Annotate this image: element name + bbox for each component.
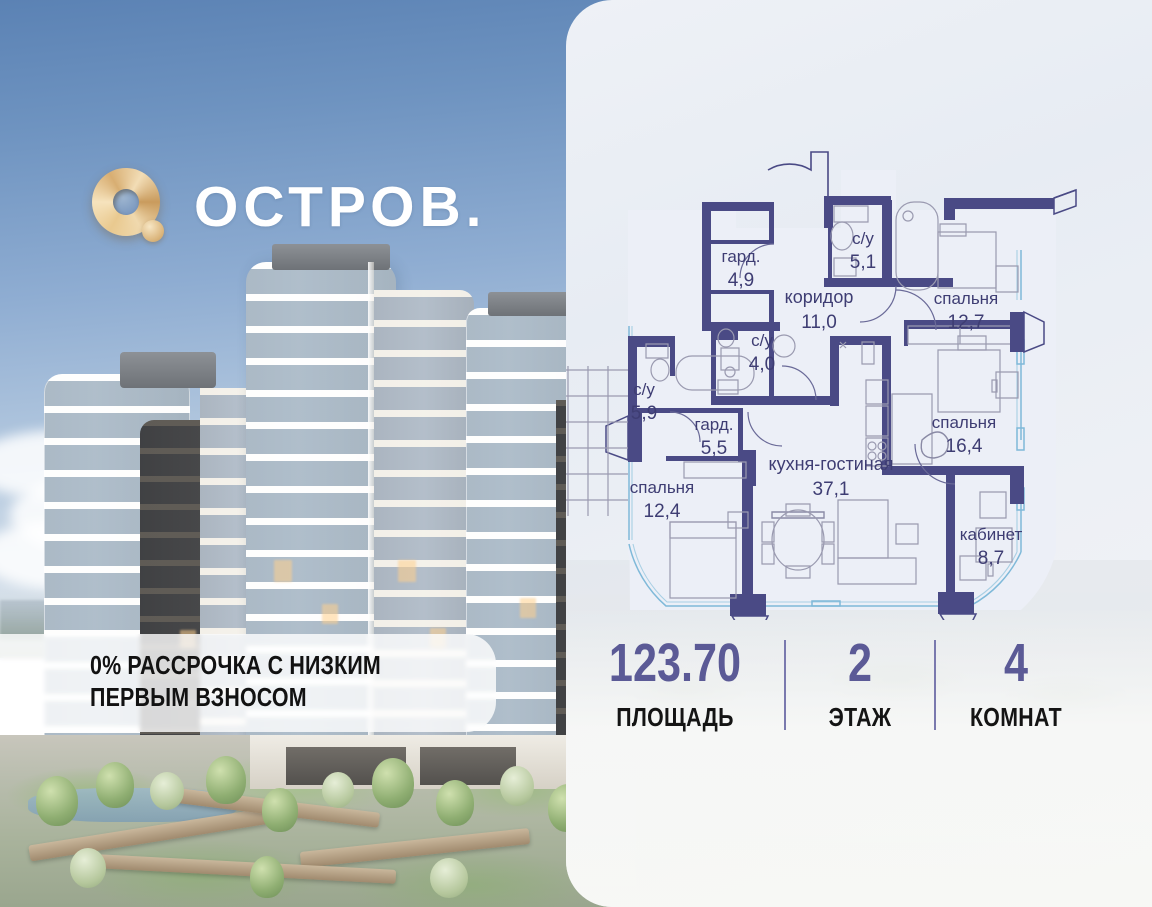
lit-window bbox=[398, 560, 416, 582]
apartment-stats: 123.70 ПЛОЩАДЬ 2 ЭТАЖ 4 КОМНАТ bbox=[566, 636, 1152, 746]
stat-floor-value: 2 bbox=[801, 636, 919, 690]
room-label: кухня-гостиная bbox=[769, 454, 894, 474]
stat-rooms-value: 4 bbox=[952, 636, 1080, 690]
tree bbox=[36, 776, 78, 826]
room-label: гард. bbox=[695, 415, 734, 434]
room-area: 5,9 bbox=[631, 403, 657, 424]
room-area: 5,5 bbox=[701, 438, 727, 459]
room-area: 4,0 bbox=[749, 354, 775, 375]
stat-area: 123.70 ПЛОЩАДЬ bbox=[566, 636, 784, 730]
stat-floor: 2 ЭТАЖ bbox=[786, 636, 934, 730]
lit-window bbox=[322, 604, 338, 624]
stat-divider bbox=[784, 640, 786, 730]
tree bbox=[96, 762, 134, 808]
stat-divider bbox=[934, 640, 936, 730]
gold-ring-logo-icon bbox=[92, 168, 168, 246]
brand-logo: ОСТРОВ. bbox=[92, 168, 487, 246]
room-label: с/у bbox=[852, 229, 874, 248]
stat-rooms-label: КОМНАТ bbox=[950, 704, 1081, 730]
tree bbox=[150, 772, 184, 810]
room-label: коридор bbox=[785, 287, 854, 307]
tree bbox=[250, 856, 284, 898]
brand-name: ОСТРОВ. bbox=[194, 179, 487, 236]
tree bbox=[262, 788, 298, 832]
building-render-photo bbox=[0, 0, 640, 907]
promo-banner: 0% РАССРОЧКА С НИЗКИМ ПЕРВЫМ ВЗНОСОМ bbox=[0, 634, 496, 732]
tree bbox=[70, 848, 106, 888]
room-area: 16,4 bbox=[946, 436, 983, 457]
lit-window bbox=[274, 560, 292, 582]
room-area: 37,1 bbox=[813, 479, 850, 500]
tree bbox=[500, 766, 534, 806]
room-label: кабинет bbox=[960, 525, 1023, 544]
stat-area-label: ПЛОЩАДЬ bbox=[586, 704, 765, 730]
tree bbox=[372, 758, 414, 808]
tower-right-roof bbox=[488, 292, 574, 316]
stat-area-value: 123.70 bbox=[588, 636, 762, 690]
tower-left-roof bbox=[120, 352, 216, 388]
ring-dot-shape bbox=[142, 220, 164, 242]
stat-rooms: 4 КОМНАТ bbox=[936, 636, 1096, 730]
tree bbox=[430, 858, 468, 898]
tree bbox=[206, 756, 246, 804]
promo-text: 0% РАССРОЧКА С НИЗКИМ ПЕРВЫМ ВЗНОСОМ bbox=[90, 651, 381, 714]
room-area: 12,4 bbox=[644, 501, 681, 522]
tree bbox=[322, 772, 354, 808]
room-area: 8,7 bbox=[978, 548, 1004, 569]
lit-window bbox=[520, 598, 536, 618]
room-area: 11,0 bbox=[801, 312, 837, 333]
room-label: с/у bbox=[633, 380, 655, 399]
room-label: спальня bbox=[630, 478, 695, 497]
room-area: 4,9 bbox=[728, 270, 754, 291]
marketing-card: ОСТРОВ. 0% РАССРОЧКА С НИЗКИМ ПЕРВЫМ ВЗН… bbox=[0, 0, 1152, 907]
room-label: гард. bbox=[722, 247, 761, 266]
room-area: 12,7 bbox=[948, 312, 985, 333]
room-area: 5,1 bbox=[850, 252, 876, 273]
tree bbox=[436, 780, 474, 826]
floor-plan: .w { fill:#4a4a85; } .f { fill:#eceff7; … bbox=[566, 140, 1152, 620]
stat-floor-label: ЭТАЖ bbox=[799, 704, 920, 730]
room-label: с/у bbox=[751, 331, 773, 350]
room-label: спальня bbox=[932, 413, 997, 432]
room-label: спальня bbox=[934, 289, 999, 308]
